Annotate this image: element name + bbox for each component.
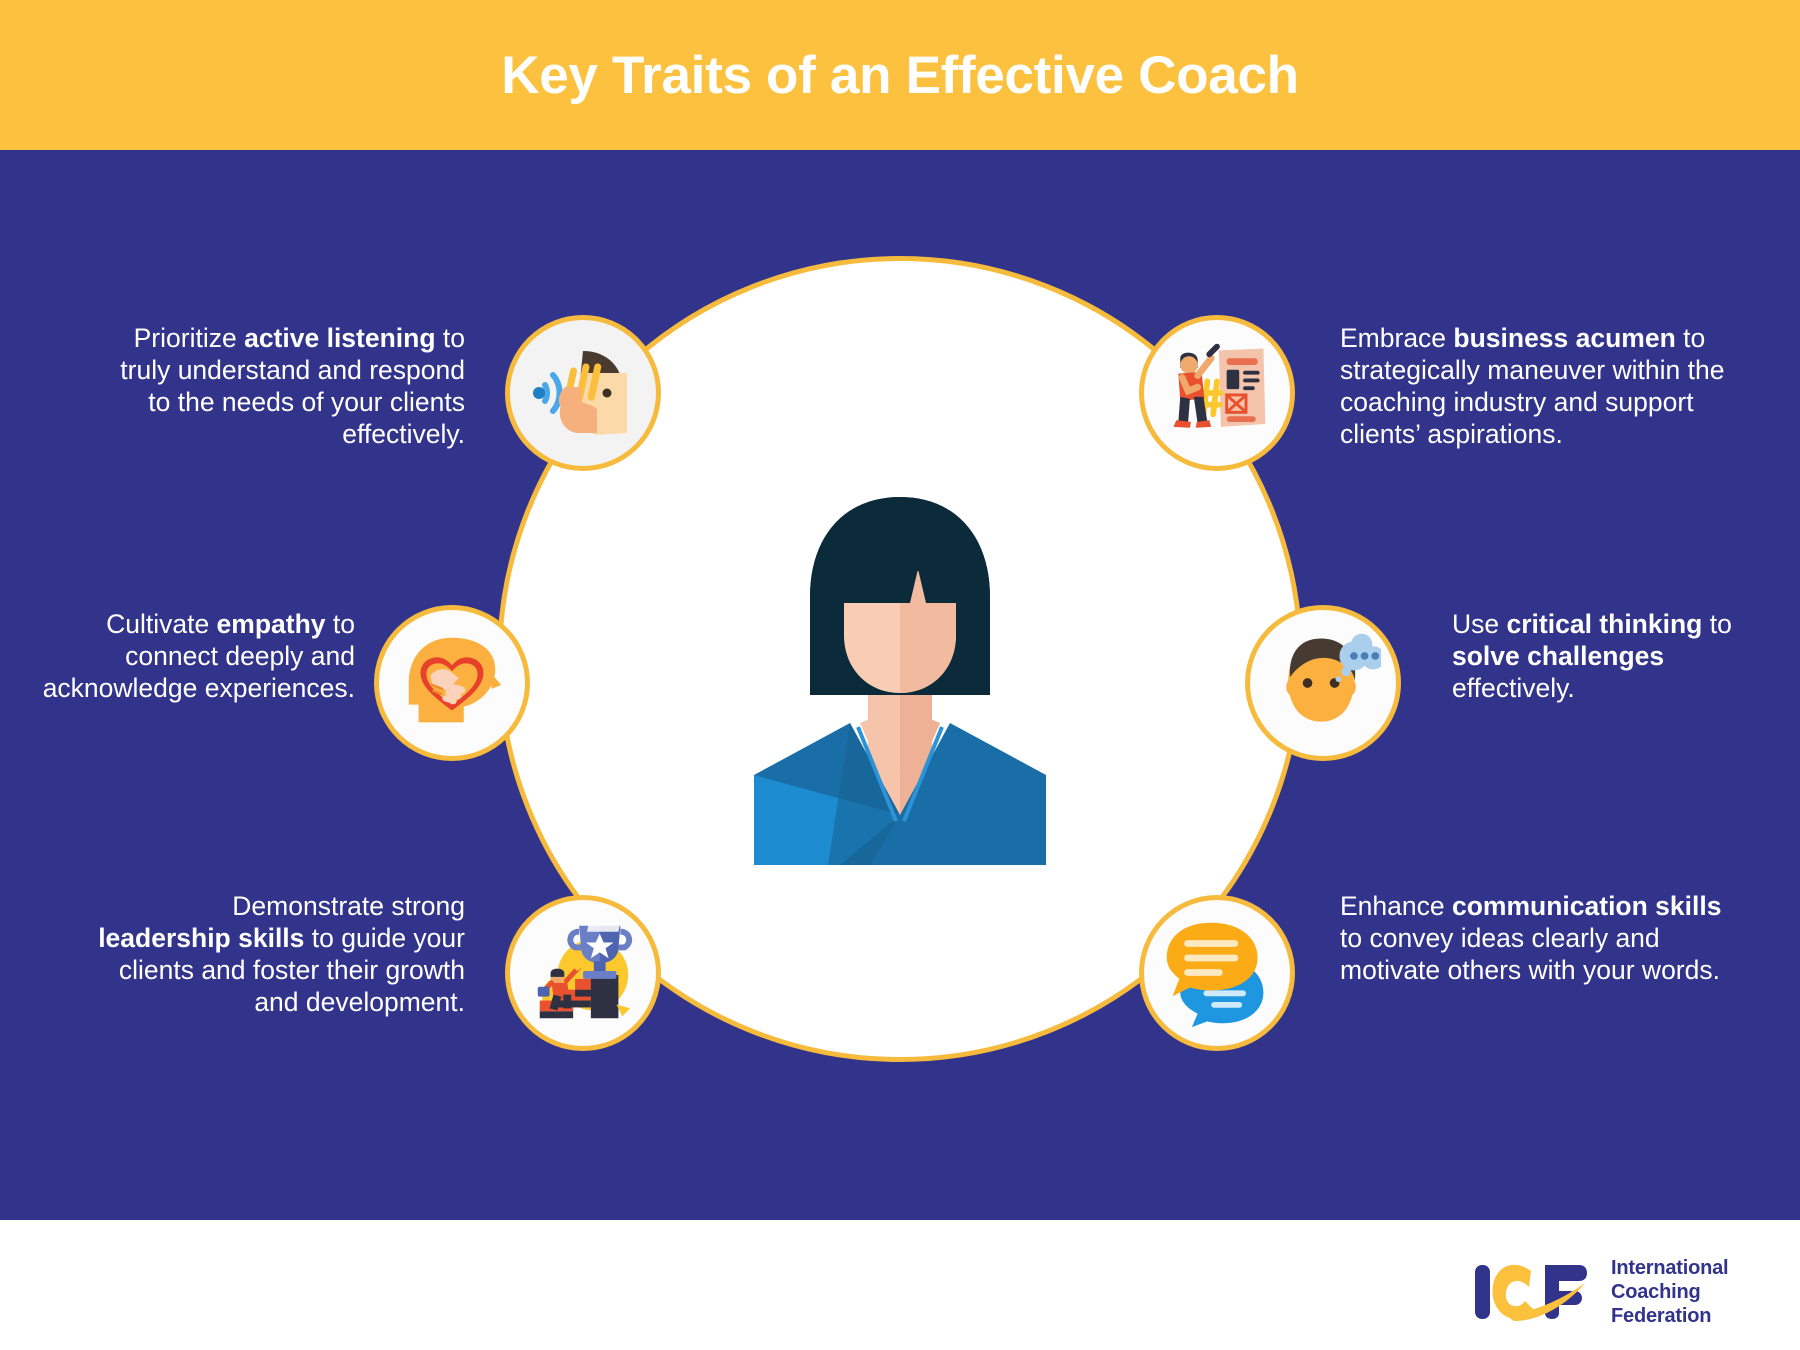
icf-line-1: International <box>1611 1256 1728 1280</box>
trait-text-business: Embrace business acumen to strategically… <box>1340 322 1740 450</box>
critical-bold2: solve challenges <box>1452 641 1664 671</box>
trait-node-communication[interactable] <box>1139 895 1295 1051</box>
infographic-root: Key Traits of an Effective Coach <box>0 0 1800 1350</box>
critical-thinking-thought-bubble-icon <box>1265 625 1381 741</box>
trait-node-critical[interactable] <box>1245 605 1401 761</box>
trait-node-business[interactable] <box>1139 315 1295 471</box>
empathy-head-heart-icon <box>393 624 511 742</box>
trait-node-listening[interactable] <box>505 315 661 471</box>
leadership-trophy-stairs-icon <box>524 914 642 1032</box>
trait-text-empathy: Cultivate empathy to connect deeply and … <box>30 608 355 704</box>
critical-mid: to <box>1702 609 1731 639</box>
trait-text-communication: Enhance communication skills to convey i… <box>1340 890 1740 986</box>
listening-lead: Prioritize <box>134 323 244 353</box>
communication-tail: to convey ideas clearly and motivate oth… <box>1340 923 1720 985</box>
female-coach-illustration <box>740 485 1060 865</box>
icf-line-3: Federation <box>1611 1304 1728 1328</box>
communication-bold: communication skills <box>1452 891 1722 921</box>
trait-text-listening: Prioritize active listening to truly und… <box>95 322 465 450</box>
trait-node-leadership[interactable] <box>505 895 661 1051</box>
trait-text-leadership: Demonstrate strong leadership skills to … <box>95 890 465 1018</box>
listening-ear-icon <box>523 333 643 453</box>
leadership-bold: leadership skills <box>98 923 304 953</box>
critical-bold: critical thinking <box>1507 609 1703 639</box>
listening-bold: active listening <box>244 323 435 353</box>
trait-text-critical: Use critical thinking to solve challenge… <box>1452 608 1742 704</box>
page-title: Key Traits of an Effective Coach <box>0 0 1800 150</box>
trait-node-empathy[interactable] <box>374 605 530 761</box>
icf-wordmark: International Coaching Federation <box>1611 1256 1728 1328</box>
leadership-lead: Demonstrate strong <box>232 891 465 921</box>
icf-mark-icon <box>1473 1259 1595 1325</box>
communication-speech-bubbles-icon <box>1159 915 1275 1031</box>
empathy-lead: Cultivate <box>106 609 216 639</box>
business-acumen-document-icon <box>1159 335 1275 451</box>
communication-lead: Enhance <box>1340 891 1452 921</box>
icf-line-2: Coaching <box>1611 1280 1728 1304</box>
business-lead: Embrace <box>1340 323 1453 353</box>
critical-lead: Use <box>1452 609 1507 639</box>
icf-logo: International Coaching Federation <box>1473 1256 1758 1328</box>
critical-tail: effectively. <box>1452 673 1575 703</box>
empathy-bold: empathy <box>217 609 326 639</box>
business-bold: business acumen <box>1453 323 1675 353</box>
